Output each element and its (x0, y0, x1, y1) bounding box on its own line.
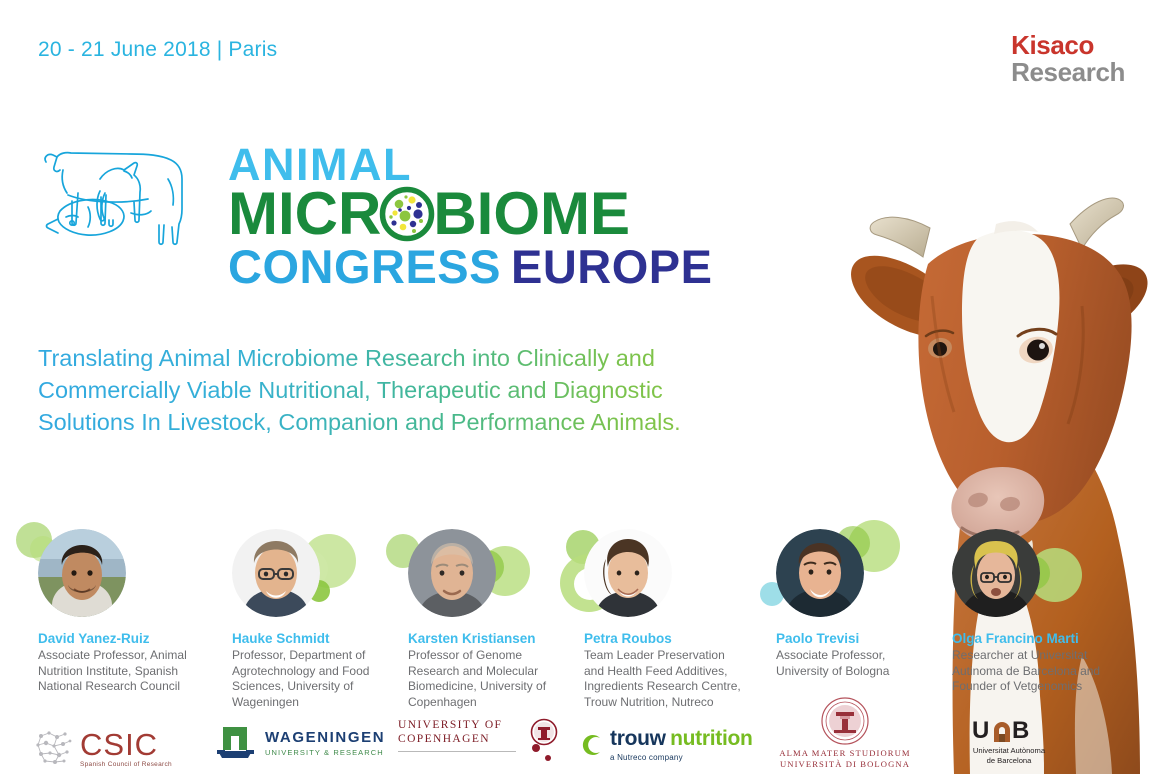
bologna-line1: ALMA MATER STUDIORUM (770, 748, 920, 759)
speaker-name: Petra Roubos (584, 631, 746, 646)
speaker-avatar-art (208, 520, 394, 625)
poster-canvas: 20 - 21 June 2018 | Paris Kisaco Researc… (0, 0, 1165, 774)
speaker-card: David Yanez-Ruiz Associate Professor, An… (14, 520, 200, 695)
speaker-avatar-art (14, 520, 200, 625)
avatar (584, 529, 672, 617)
title-row-congress: CONGRESSEUROPE (228, 243, 728, 290)
speaker-role: Researcher at Universitat Autinoma de Ba… (952, 648, 1112, 695)
title-microbiome-post: BIOME (433, 180, 630, 247)
csic-mark-icon (32, 728, 74, 768)
event-title-block: ANIMAL MICR (228, 142, 728, 290)
speaker-card: Paolo Trevisi Associate Professor, Unive… (752, 520, 938, 679)
title-microbiome-pre: MICR (228, 180, 381, 247)
avatar (776, 529, 864, 617)
speaker-name: Paolo Trevisi (776, 631, 938, 646)
speaker-name: David Yanez-Ruiz (38, 631, 200, 646)
speaker-card: Olga Francino Marti Researcher at Univer… (928, 520, 1114, 695)
wageningen-wordmark: WAGENINGEN (265, 730, 385, 745)
copenhagen-line2: COPENHAGEN (398, 732, 516, 746)
avatar (232, 529, 320, 617)
copenhagen-line1: UNIVERSITY OF (398, 718, 516, 732)
sponsor-logos-row: CSIC Spanish Council of Research WAGENIN… (0, 700, 1165, 774)
title-row-microbiome: MICR (228, 183, 728, 245)
avatar (408, 529, 496, 617)
kisaco-research-logo: Kisaco Research (1011, 32, 1125, 85)
wageningen-subtitle: UNIVERSITY & RESEARCH (265, 748, 385, 757)
csic-subtitle: Spanish Council of Research (80, 761, 172, 768)
animal-lineart-icon (28, 135, 213, 260)
event-tagline: Translating Animal Microbiome Research i… (38, 342, 738, 438)
speaker-avatar-art (560, 520, 746, 625)
copenhagen-seal-icon (524, 718, 564, 764)
speaker-card: Hauke Schmidt Professor, Department of A… (208, 520, 394, 710)
trouw-word2: nutrition (670, 727, 752, 750)
uab-line1: Universitat Autònoma (944, 746, 1074, 756)
speaker-name: Olga Francino Marti (952, 631, 1114, 646)
title-congress: CONGRESS (228, 240, 501, 293)
uab-line2: de Barcelona (944, 756, 1074, 766)
trouw-mark-icon (578, 732, 604, 758)
brand-line-research: Research (1011, 59, 1125, 85)
speaker-card: Karsten Kristiansen Professor of Genome … (384, 520, 570, 710)
trouw-word1: trouw (610, 727, 666, 750)
logo-wageningen: WAGENINGEN UNIVERSITY & RESEARCH (216, 724, 385, 762)
brand-line-kisaco: Kisaco (1011, 32, 1125, 58)
csic-wordmark: CSIC (80, 729, 172, 760)
speaker-avatar-art (752, 520, 938, 625)
speaker-avatar-art (384, 520, 570, 625)
speaker-role: Associate Professor, Animal Nutrition In… (38, 648, 198, 695)
bologna-seal-icon (820, 696, 870, 746)
uab-wordmark-icon: U B (972, 717, 1046, 743)
speaker-avatar-art (928, 520, 1114, 625)
trouw-subtitle: a Nutreco company (610, 753, 753, 762)
logo-uab: U B Universitat Autònoma de Barcelona (944, 717, 1074, 766)
logo-trouw-nutrition: trouw nutrition a Nutreco company (578, 727, 753, 762)
speaker-name: Karsten Kristiansen (408, 631, 570, 646)
avatar (952, 529, 1040, 617)
wageningen-mark-icon (216, 724, 256, 762)
speaker-role: Associate Professor, University of Bolog… (776, 648, 936, 679)
copenhagen-rule (398, 751, 516, 752)
speaker-card: Petra Roubos Team Leader Preservation an… (560, 520, 746, 710)
svg-text:U: U (972, 717, 989, 743)
svg-text:B: B (1012, 717, 1029, 743)
title-europe: EUROPE (511, 240, 713, 293)
avatar (38, 529, 126, 617)
logo-copenhagen: UNIVERSITY OF COPENHAGEN (398, 718, 564, 764)
speaker-name: Hauke Schmidt (232, 631, 394, 646)
microbe-circle-icon (379, 186, 435, 242)
bologna-line2: UNIVERSITÀ DI BOLOGNA (770, 759, 920, 770)
logo-bologna: ALMA MATER STUDIORUM UNIVERSITÀ DI BOLOG… (770, 696, 920, 770)
event-date-location: 20 - 21 June 2018 | Paris (38, 38, 277, 62)
logo-csic: CSIC Spanish Council of Research (32, 728, 172, 768)
speakers-row: David Yanez-Ruiz Associate Professor, An… (0, 520, 1165, 720)
